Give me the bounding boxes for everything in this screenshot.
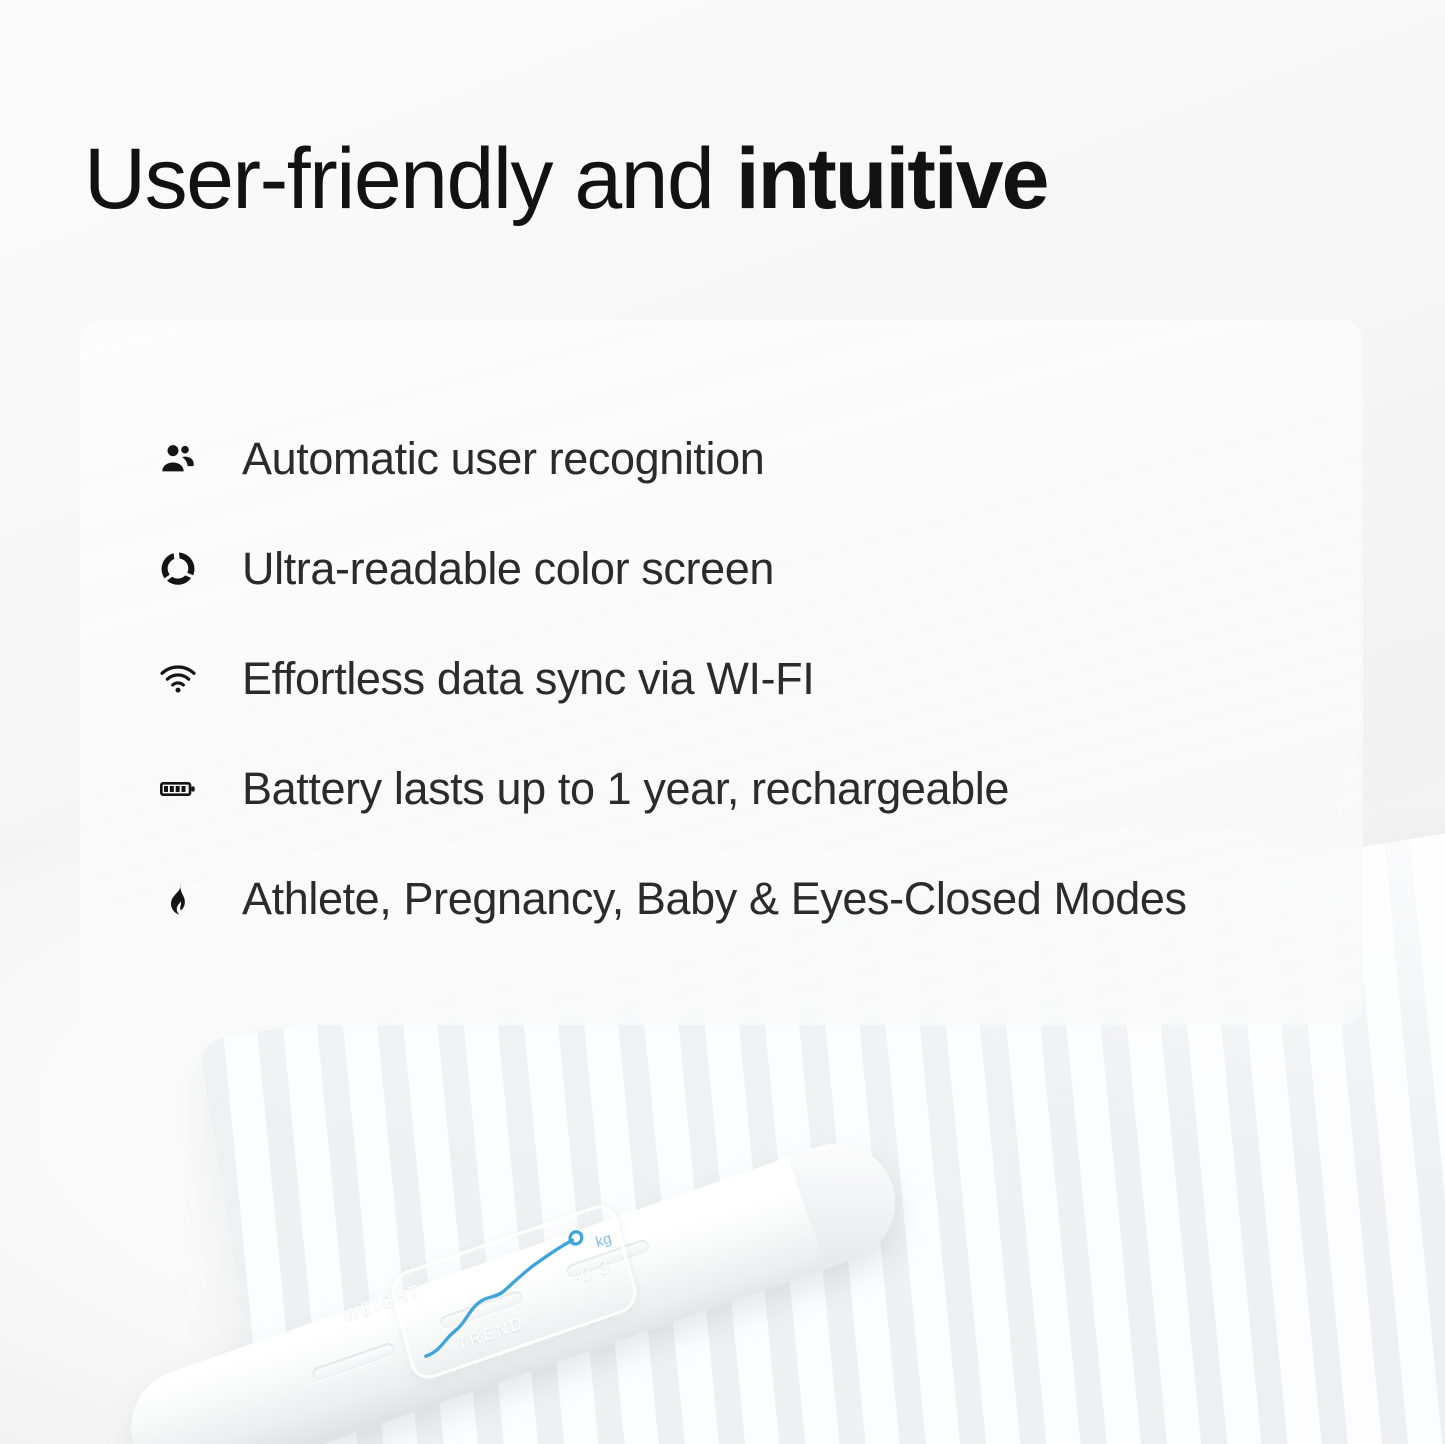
scale-button-1 bbox=[311, 1342, 396, 1383]
feature-label: Effortless data sync via WI-FI bbox=[242, 654, 814, 704]
page-title-accent: intuitive bbox=[736, 131, 1048, 227]
feature-item-user-recognition: Automatic user recognition bbox=[155, 404, 1355, 514]
product-feature-image: WEIGHT TREND -0.3 kg User-friendly and i… bbox=[0, 0, 1445, 1444]
feature-item-modes: Athlete, Pregnancy, Baby & Eyes-Closed M… bbox=[155, 844, 1355, 954]
page-title: User-friendly and intuitive bbox=[84, 134, 1047, 224]
page-title-plain: User-friendly and bbox=[84, 131, 736, 227]
feature-label: Ultra-readable color screen bbox=[242, 544, 774, 594]
feature-label: Automatic user recognition bbox=[242, 434, 764, 484]
wifi-icon bbox=[155, 656, 201, 702]
battery-icon bbox=[155, 766, 201, 812]
flame-icon bbox=[155, 876, 201, 922]
feature-label: Athlete, Pregnancy, Baby & Eyes-Closed M… bbox=[242, 874, 1187, 924]
feature-item-wifi-sync: Effortless data sync via WI-FI bbox=[155, 624, 1355, 734]
feature-list: Automatic user recognition Ultra-readabl… bbox=[155, 404, 1355, 954]
feature-item-battery-life: Battery lasts up to 1 year, rechargeable bbox=[155, 734, 1355, 844]
feature-label: Battery lasts up to 1 year, rechargeable bbox=[242, 764, 1009, 814]
color-screen-icon bbox=[155, 546, 201, 592]
people-icon bbox=[155, 436, 201, 482]
feature-item-color-screen: Ultra-readable color screen bbox=[155, 514, 1355, 624]
